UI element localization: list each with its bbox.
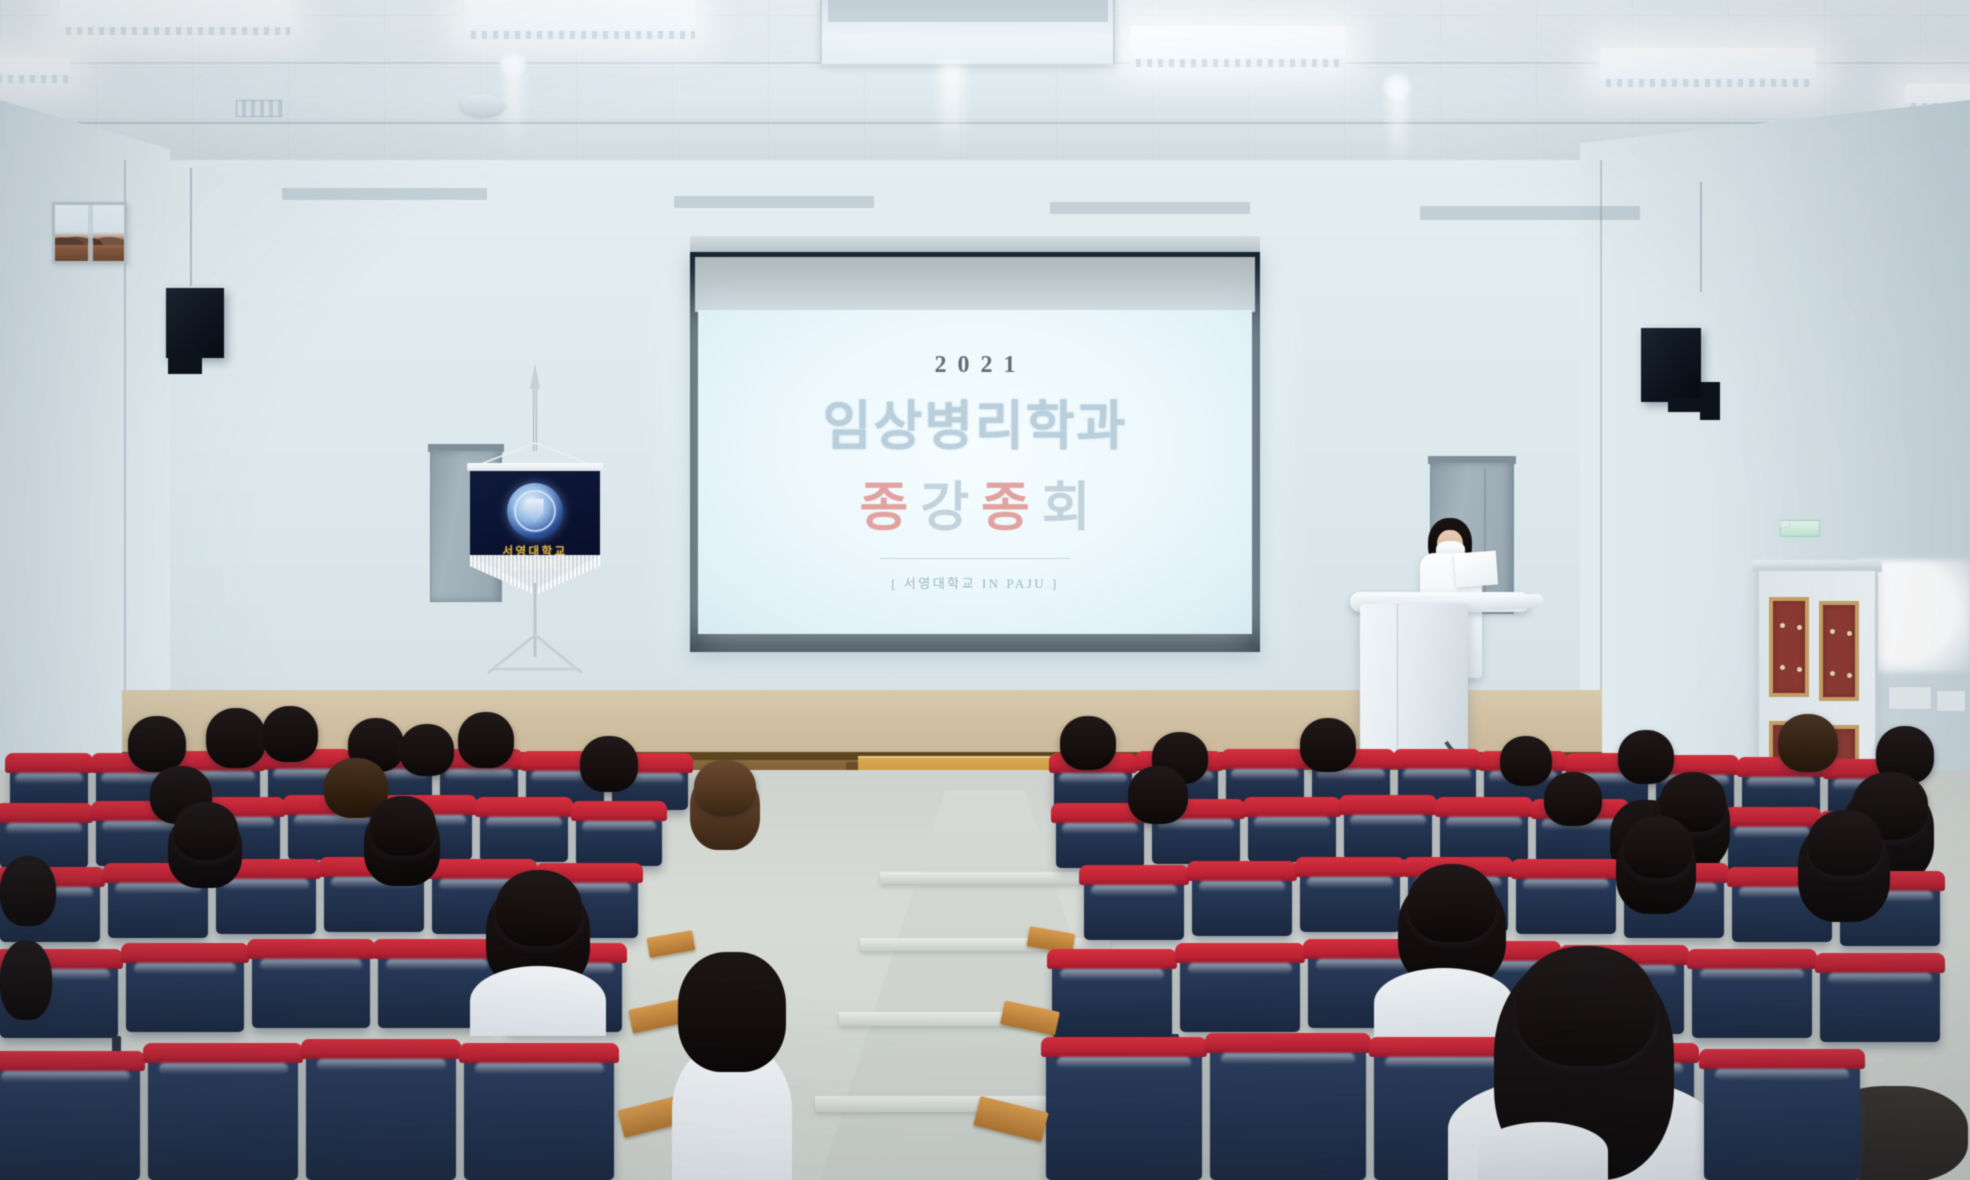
auditorium-seat[interactable]: [126, 952, 244, 1032]
audience-shoulders: [470, 966, 606, 1036]
slide-event-char-4: 회: [1042, 478, 1103, 537]
door-panel-right-upper: [1819, 601, 1859, 701]
speaker-cable: [1700, 182, 1702, 292]
banner-finial: [530, 363, 540, 389]
projection-screen: 2021 임상병리학과 종강종회 [ 서영대학교 IN PAJU ]: [690, 252, 1260, 652]
speaker-bracket: [168, 352, 202, 374]
wall-marking: [674, 196, 874, 208]
auditorium-seat[interactable]: [1820, 962, 1940, 1042]
auditorium-seat[interactable]: [1692, 958, 1812, 1038]
audience-head: [1300, 718, 1356, 772]
ceiling-light-fixture: [1600, 48, 1815, 82]
auditorium-seat[interactable]: [1516, 868, 1616, 934]
auditorium-seat[interactable]: [1344, 804, 1432, 860]
auditorium-seat[interactable]: [1704, 1058, 1860, 1180]
audience-head: [400, 724, 454, 776]
outlet-plate[interactable]: [1936, 690, 1966, 712]
speaker-cable: [190, 168, 192, 286]
banner-hem: [467, 463, 603, 471]
auditorium-seat[interactable]: [1300, 866, 1400, 932]
presenter-paper: [1454, 551, 1498, 588]
door-panel-left-upper: [1769, 597, 1809, 697]
audience-head: [1500, 736, 1552, 786]
auditorium-seat[interactable]: [464, 1052, 614, 1180]
banner-tripod-stand: [470, 583, 600, 675]
slide-event-char-3: 종: [981, 478, 1042, 537]
audience-head: [694, 760, 756, 816]
aisle-step: [880, 872, 1090, 884]
audience-head: [580, 736, 638, 792]
slide-event-char-2: 강: [920, 478, 981, 537]
auditorium-seat[interactable]: [0, 1060, 140, 1180]
slide-year: 2021: [924, 352, 1027, 379]
ceiling-light-fixture: [60, 0, 290, 30]
audience-head: [0, 940, 52, 1020]
auditorium-seat[interactable]: [148, 1052, 298, 1180]
department-banner: 서영대학교 임상병리학과: [470, 455, 600, 630]
auditorium-seat[interactable]: [576, 810, 662, 866]
wall-window: [52, 202, 127, 264]
audience-arm: [1478, 1122, 1608, 1180]
ceiling-light-fixture: [1130, 26, 1345, 62]
screen-unlit-area: [695, 257, 1255, 312]
audience-head: [128, 716, 186, 772]
audience-head: [1618, 730, 1674, 784]
window-view: [55, 205, 124, 261]
audience-head: [262, 706, 318, 762]
audience-head: [1778, 714, 1838, 772]
audience-head: [1408, 864, 1496, 942]
audience-head: [206, 708, 266, 768]
slide-divider: [880, 558, 1070, 559]
audience-shoulders: [1374, 968, 1514, 1038]
audience-head: [0, 856, 56, 926]
window-trees: [55, 223, 124, 245]
auditorium-seat[interactable]: [306, 1048, 456, 1180]
wall-marking: [282, 188, 487, 200]
wall-marking: [1420, 206, 1640, 220]
university-emblem-icon: [507, 483, 563, 539]
wall-marking: [1050, 202, 1250, 214]
smoke-detector: [460, 94, 504, 116]
audience-head: [174, 802, 238, 860]
auditorium-photo: 2021 임상병리학과 종강종회 [ 서영대학교 IN PAJU ] 서영대학교…: [0, 0, 1970, 1180]
auditorium-seat[interactable]: [1052, 958, 1172, 1038]
audience-head: [370, 796, 436, 856]
auditorium-seat[interactable]: [1192, 870, 1292, 936]
audience-head: [1060, 716, 1116, 770]
auditorium-seat[interactable]: [1210, 1042, 1366, 1180]
projected-image: 2021 임상병리학과 종강종회 [ 서영대학교 IN PAJU ]: [698, 310, 1252, 634]
audience-head: [458, 712, 514, 768]
auditorium-seat[interactable]: [1248, 806, 1336, 862]
presentation-slide: 2021 임상병리학과 종강종회 [ 서영대학교 IN PAJU ]: [698, 310, 1252, 634]
slide-event-char-1: 종: [859, 478, 920, 537]
speaker-bracket: [1668, 398, 1712, 412]
light-beam: [940, 64, 964, 159]
audience-hair: [678, 952, 786, 1072]
slide-department: 임상병리학과: [823, 384, 1128, 460]
audience-head: [1624, 816, 1692, 878]
audience-head: [1544, 772, 1602, 826]
light-switch-plate[interactable]: [1888, 686, 1932, 710]
light-beam: [506, 68, 522, 154]
slide-event-title: 종강종회: [847, 465, 1102, 541]
audience-head: [1128, 766, 1188, 824]
auditorium-seat[interactable]: [252, 948, 370, 1028]
auditorium-seat[interactable]: [480, 806, 568, 862]
wall-speaker: [1641, 328, 1701, 402]
slide-subtitle: [ 서영대학교 IN PAJU ]: [891, 573, 1059, 592]
projector-housing-shadow: [828, 0, 1108, 22]
auditorium-seat[interactable]: [1056, 812, 1144, 868]
auditorium-seat[interactable]: [1046, 1046, 1202, 1180]
audience-head: [496, 870, 582, 946]
air-vent: [236, 100, 282, 117]
ceiling-light-fixture: [465, 0, 695, 34]
auditorium-seat[interactable]: [1440, 806, 1528, 862]
ceiling-light-fixture: [0, 58, 70, 78]
ceiling-seam: [0, 122, 1970, 124]
auditorium-seat[interactable]: [1180, 952, 1300, 1032]
audience-head: [1516, 946, 1656, 1066]
door-mullion: [1484, 468, 1486, 608]
wall-speaker: [166, 288, 224, 358]
wall-marker: [1778, 520, 1790, 528]
audience-head: [1808, 810, 1882, 876]
auditorium-seat[interactable]: [1084, 874, 1184, 940]
